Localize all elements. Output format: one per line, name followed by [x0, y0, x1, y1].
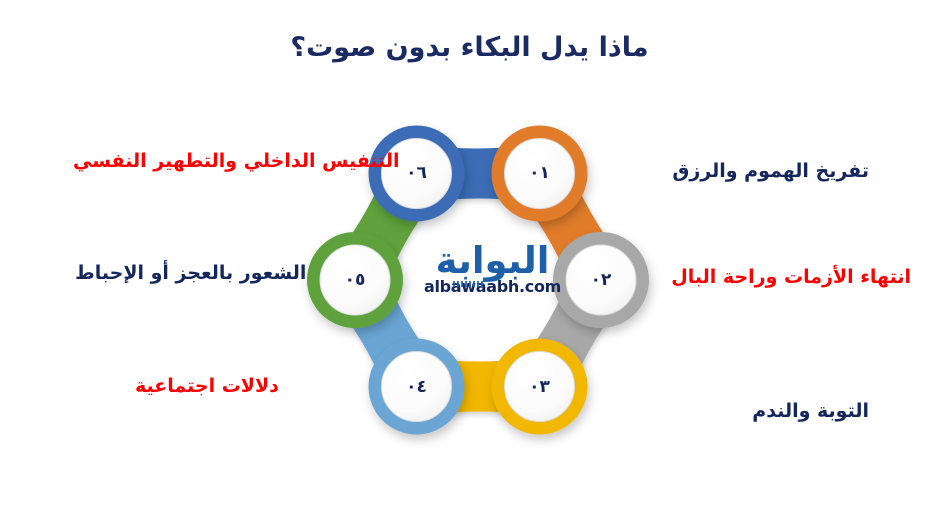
node-circle-05[interactable]: [307, 232, 403, 328]
node-label-04: دلالات اجتماعية: [135, 375, 279, 398]
node-face-03: [505, 352, 575, 422]
node-label-01: تفريخ الهموم والرزق: [672, 160, 869, 183]
node-label-03: التوبة والندم: [752, 400, 869, 423]
node-face-06: [382, 138, 452, 208]
node-face-04: [382, 352, 452, 422]
page-title: ماذا يدل البكاء بدون صوت؟: [0, 32, 939, 63]
node-face-05: [320, 245, 390, 315]
node-circle-06[interactable]: [369, 125, 465, 221]
node-label-06: التنفيس الداخلي والتطهير النفسي: [73, 150, 400, 173]
node-circle-02[interactable]: [553, 232, 649, 328]
node-face-01: [505, 138, 575, 208]
node-label-02: انتهاء الأزمات وراحة البال: [671, 266, 911, 289]
node-face-02: [566, 245, 636, 315]
node-circle-01[interactable]: [492, 125, 588, 221]
infographic-canvas: ماذا يدل البكاء بدون صوت؟: [0, 0, 939, 509]
node-circle-04[interactable]: [369, 339, 465, 435]
node-circle-03[interactable]: [492, 339, 588, 435]
node-label-05: الشعور بالعجز أو الإحباط: [75, 262, 306, 285]
